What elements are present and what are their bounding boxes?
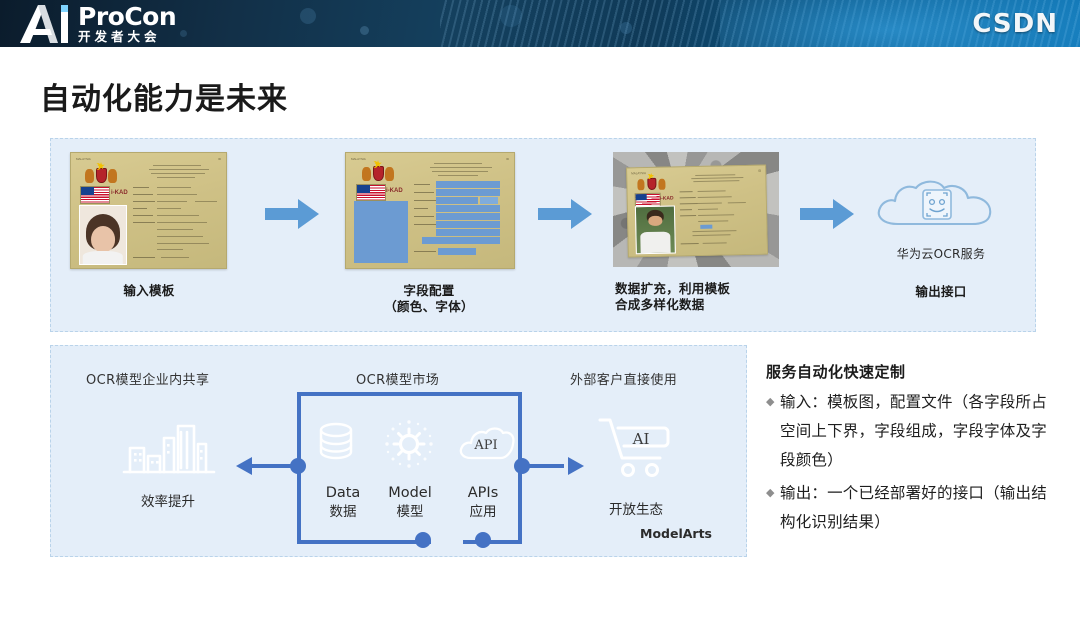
cloud-ocr-icon [868, 178, 1014, 241]
shopping-cart-ai-icon: AI [594, 412, 678, 485]
market-item-data: Data 数据 [305, 484, 381, 522]
right-arrow-icon [800, 197, 856, 231]
market-box-node-bottom-right [475, 532, 491, 548]
coat-of-arms-icon [360, 161, 396, 183]
left-arrow-icon [236, 455, 258, 482]
right-arrow-icon [538, 197, 594, 231]
logo-procon-text: ProCon [78, 4, 176, 29]
market-item-model: Model 模型 [372, 484, 448, 522]
logo-subtitle-text: 开发者大会 [78, 30, 176, 44]
header-bokeh-dot [620, 22, 632, 34]
cloud-service-label: 华为云OCR服务 [868, 245, 1014, 262]
database-icon [313, 420, 359, 473]
city-buildings-icon [118, 418, 218, 485]
flow-step-data-augmentation: MALAYSIA ID i-KAD [613, 152, 779, 313]
aiprocon-logo: ProCon 开发者大会 [18, 3, 176, 45]
csdn-brand-logo: CSDN [972, 9, 1058, 39]
id-card-masked-image: MALAYSIA ID i-KAD [345, 152, 515, 269]
flow-step-caption: 数据扩充，利用模板 [613, 281, 779, 297]
svg-text:AI: AI [632, 430, 650, 448]
diagram-heading-center: OCR模型市场 [356, 369, 439, 388]
bullet-item: ◆ 输入：模板图，配置文件（各字段所占空间上下界，字段组成，字段字体及字段颜色） [766, 388, 1056, 475]
right-arrow-icon [562, 455, 584, 482]
connector-right [522, 464, 564, 468]
market-item-en: Data [305, 484, 381, 503]
market-item-cn: 应用 [445, 503, 521, 522]
photo-field-mask [354, 201, 408, 263]
page-header: ProCon 开发者大会 CSDN [0, 0, 1080, 47]
flow-step-input-template: MALAYSIA ID i-KAD 输入模板 [70, 152, 228, 299]
gear-sun-icon [382, 418, 436, 475]
cloud-api-icon: API [457, 424, 515, 469]
header-bokeh-dot [360, 26, 369, 35]
header-bokeh-dot [180, 30, 187, 37]
flow-step-caption: 输入模板 [70, 283, 228, 299]
coat-of-arms-icon [636, 174, 666, 193]
market-item-apis: APIs 应用 [445, 484, 521, 522]
left-caption: 效率提升 [118, 490, 218, 510]
flow-step-caption: 字段配置 [345, 283, 513, 299]
market-item-cn: 数据 [305, 503, 381, 522]
id-card-synth-image: MALAYSIA ID i-KAD [613, 152, 779, 267]
svg-text:API: API [473, 438, 497, 453]
id-card-template-image: MALAYSIA ID i-KAD [70, 152, 227, 269]
modelarts-footnote: ModelArts [640, 526, 712, 541]
header-bokeh-dot [300, 8, 316, 24]
ai-mark-icon [18, 3, 74, 43]
diagram-heading-left: OCR模型企业内共享 [86, 369, 209, 388]
flow-step-caption-line2: （颜色、字体） [345, 299, 513, 315]
header-bokeh-dot [500, 5, 522, 27]
coat-of-arms-icon [83, 163, 119, 185]
diagram-heading-right: 外部客户直接使用 [570, 369, 677, 388]
flag-icon [80, 186, 110, 204]
bullet-text: 输入：模板图，配置文件（各字段所占空间上下界，字段组成，字段字体及字段颜色） [780, 388, 1056, 475]
bullet-item: ◆ 输出：一个已经部署好的接口（输出结构化识别结果） [766, 479, 1056, 537]
portrait-photo [635, 205, 676, 254]
flag-icon [356, 184, 386, 201]
right-panel-title: 服务自动化快速定制 [766, 361, 906, 382]
market-box-bottom-gap [431, 538, 463, 548]
right-caption: 开放生态 [590, 498, 682, 518]
bullet-diamond-icon: ◆ [766, 479, 780, 508]
market-box-node-bottom-left [415, 532, 431, 548]
right-arrow-icon [265, 197, 321, 231]
flow-step-field-config: MALAYSIA ID i-KAD 字段配置 （颜色、字体） [345, 152, 513, 315]
market-item-en: APIs [445, 484, 521, 503]
bullet-diamond-icon: ◆ [766, 388, 780, 417]
page-title: 自动化能力是未来 [40, 74, 288, 118]
bullet-text: 输出：一个已经部署好的接口（输出结构化识别结果） [780, 479, 1056, 537]
flow-step-caption: 输出接口 [868, 284, 1014, 300]
flow-step-caption-line2: 合成多样化数据 [613, 297, 779, 313]
portrait-photo [79, 205, 127, 265]
right-panel-bullets: ◆ 输入：模板图，配置文件（各字段所占空间上下界，字段组成，字段字体及字段颜色）… [766, 388, 1056, 541]
market-item-cn: 模型 [372, 503, 448, 522]
flow-step-output-interface: 华为云OCR服务 输出接口 [868, 178, 1014, 300]
market-item-en: Model [372, 484, 448, 503]
